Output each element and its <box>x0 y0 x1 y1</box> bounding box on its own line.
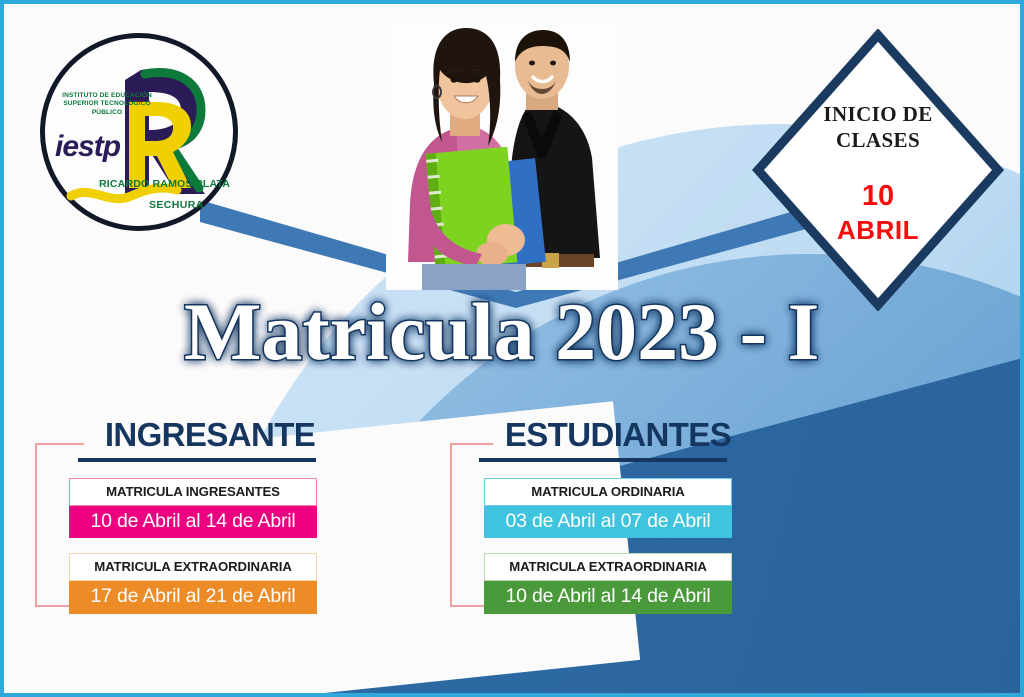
schedule-date-extraordinaria-ingresante: 17 de Abril al 21 de Abril <box>69 581 317 613</box>
logo-city: SECHURA <box>149 199 204 211</box>
schedule-date-ingresantes: 10 de Abril al 14 de Abril <box>69 506 317 538</box>
students-photo <box>386 18 618 290</box>
schedule-label-extraordinaria-estudiante: MATRICULA EXTRAORDINARIA <box>484 553 732 581</box>
schedule-label-ingresantes: MATRICULA INGRESANTES <box>69 478 317 506</box>
poster-canvas: INSTITUTO DE EDUCACIÓN SUPERIOR TECNOLÓG… <box>0 0 1024 697</box>
main-title-text: Matricula 2023 - I <box>184 286 819 377</box>
start-of-classes-diamond: INICIO DE CLASES 10 ABRIL <box>752 29 1004 311</box>
schedule-block-ordinaria[interactable]: MATRICULA ORDINARIA 03 de Abril al 07 de… <box>484 478 732 538</box>
institution-logo: INSTITUTO DE EDUCACIÓN SUPERIOR TECNOLÓG… <box>40 33 238 231</box>
schedule-block-ingresantes[interactable]: MATRICULA INGRESANTES 10 de Abril al 14 … <box>69 478 317 538</box>
logo-institution-caption: INSTITUTO DE EDUCACIÓN SUPERIOR TECNOLÓG… <box>51 92 163 117</box>
schedule-date-ordinaria: 03 de Abril al 07 de Abril <box>484 506 732 538</box>
column-heading-ingresante: INGRESANTE <box>32 418 344 455</box>
heading-underline-ingresante <box>78 458 316 462</box>
column-ingresante: INGRESANTE MATRICULA INGRESANTES 10 de A… <box>32 418 344 614</box>
schedule-block-extraordinaria-estudiante[interactable]: MATRICULA EXTRAORDINARIA 10 de Abril al … <box>484 553 732 613</box>
schedule-date-extraordinaria-estudiante: 10 de Abril al 14 de Abril <box>484 581 732 613</box>
logo-acronym: iestp <box>55 130 120 164</box>
schedule-label-extraordinaria-ingresante: MATRICULA EXTRAORDINARIA <box>69 553 317 581</box>
logo-line-2: SUPERIOR TECNOLÓGICO <box>51 100 163 108</box>
logo-institution-name: RICARDO RAMOS PLATA <box>99 178 230 190</box>
main-title-art: Matricula 2023 - I Matricula 2023 - I <box>172 285 872 381</box>
heading-underline-estudiantes <box>479 458 727 462</box>
schedule-block-extraordinaria-ingresante[interactable]: MATRICULA EXTRAORDINARIA 17 de Abril al … <box>69 553 317 613</box>
main-title: Matricula 2023 - I Matricula 2023 - I <box>172 285 872 381</box>
column-heading-estudiantes: ESTUDIANTES <box>447 418 759 455</box>
column-estudiantes: ESTUDIANTES MATRICULA ORDINARIA 03 de Ab… <box>447 418 759 614</box>
diamond-outline <box>752 29 1004 311</box>
schedule-label-ordinaria: MATRICULA ORDINARIA <box>484 478 732 506</box>
logo-line-3: PÚBLICO <box>51 109 163 117</box>
